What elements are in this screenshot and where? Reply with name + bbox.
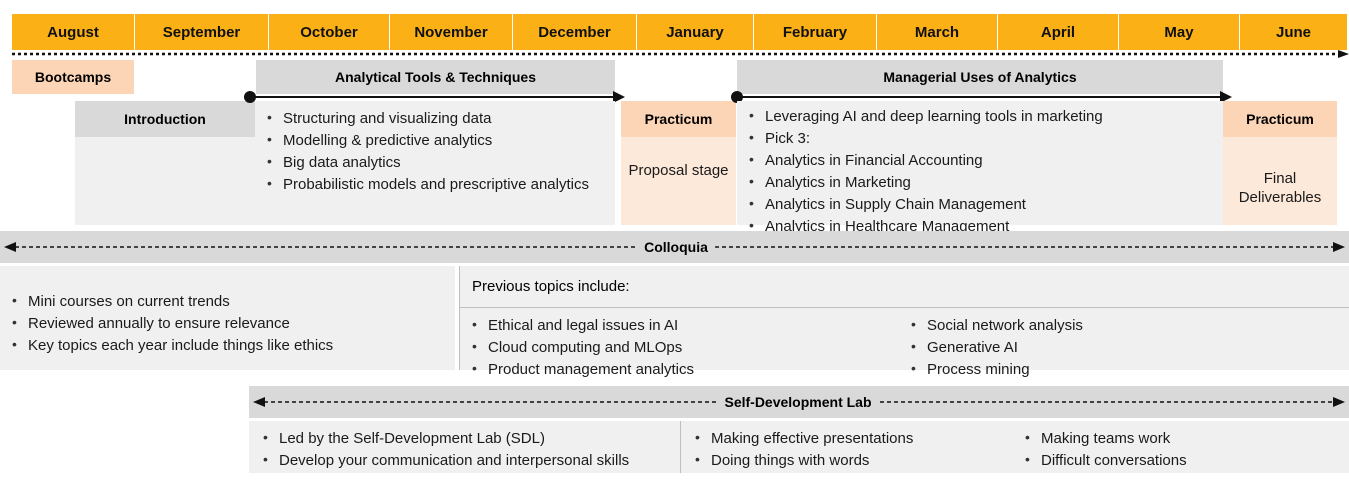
list-item: Pick 3: (745, 129, 1215, 148)
list-item: Develop your communication and interpers… (259, 451, 679, 470)
month-cell-april[interactable]: April (998, 14, 1119, 50)
colloquia-right-heading: Previous topics include: (472, 278, 1349, 295)
practicum-january-note: Proposal stage (628, 161, 728, 180)
list-item: Generative AI (907, 338, 1327, 357)
sdl-column-3: Making teams work Difficult conversation… (1021, 429, 1341, 470)
month-cell-may[interactable]: May (1119, 14, 1240, 50)
analytical-tools-label: Analytical Tools & Techniques (335, 69, 536, 85)
list-item: Modelling & predictive analytics (263, 131, 605, 150)
practicum-june-note: Final Deliverables (1223, 169, 1337, 207)
list-item: Mini courses on current trends (8, 292, 445, 311)
month-cell-november[interactable]: November (390, 14, 513, 50)
sdl-divider (680, 421, 681, 473)
list-item: Analytics in Marketing (745, 173, 1215, 192)
block-managerial-header[interactable]: Managerial Uses of Analytics (737, 60, 1223, 94)
block-analytical-tools-header[interactable]: Analytical Tools & Techniques (256, 60, 615, 94)
block-managerial-body: Leveraging AI and deep learning tools in… (737, 101, 1223, 225)
list-item: Analytics in Financial Accounting (745, 151, 1215, 170)
colloquia-label: Colloquia (637, 239, 715, 255)
block-analytical-tools-body: Structuring and visualizing data Modelli… (255, 101, 615, 225)
colloquia-right-heading-panel: Previous topics include: (459, 266, 1349, 307)
list-item: Analytics in Supply Chain Management (745, 195, 1215, 214)
bootcamps-label: Bootcamps (35, 69, 111, 85)
sdl-band[interactable]: Self-Development Lab (249, 386, 1349, 418)
colloquia-topics-column-1: Ethical and legal issues in AI Cloud com… (468, 316, 888, 379)
sdl-column-2: Making effective presentations Doing thi… (691, 429, 1011, 470)
list-item: Social network analysis (907, 316, 1327, 335)
list-item: Reviewed annually to ensure relevance (8, 314, 445, 333)
block-practicum-june[interactable]: Practicum (1223, 101, 1337, 137)
month-cell-october[interactable]: October (269, 14, 390, 50)
month-cell-august[interactable]: August (12, 14, 135, 50)
list-item: Leveraging AI and deep learning tools in… (745, 107, 1215, 126)
month-cell-january[interactable]: January (637, 14, 754, 50)
list-item: Cloud computing and MLOps (468, 338, 888, 357)
list-item: Difficult conversations (1021, 451, 1341, 470)
block-practicum-january-note: Proposal stage (621, 137, 736, 225)
month-cell-september[interactable]: September (135, 14, 269, 50)
list-item: Product management analytics (468, 360, 888, 379)
managerial-bullet-list: Leveraging AI and deep learning tools in… (745, 107, 1215, 148)
month-cell-february[interactable]: February (754, 14, 877, 50)
sdl-panel: Led by the Self-Development Lab (SDL) De… (249, 421, 1349, 473)
practicum-january-label: Practicum (645, 111, 713, 127)
list-item: Structuring and visualizing data (263, 109, 605, 128)
block-introduction[interactable]: Introduction (75, 101, 255, 137)
list-item: Big data analytics (263, 153, 605, 172)
block-introduction-body (75, 137, 255, 225)
list-item: Probabilistic models and prescriptive an… (263, 175, 605, 194)
introduction-label: Introduction (124, 111, 206, 127)
sdl-label: Self-Development Lab (717, 394, 878, 410)
managerial-label: Managerial Uses of Analytics (883, 69, 1076, 85)
colloquia-band[interactable]: Colloquia (0, 231, 1349, 263)
list-item: Doing things with words (691, 451, 1011, 470)
colloquia-topics-column-2: Social network analysis Generative AI Pr… (907, 316, 1327, 379)
month-header-row: August September October November Decemb… (12, 14, 1337, 50)
block-bootcamps[interactable]: Bootcamps (12, 60, 134, 94)
analytical-tools-bullet-list: Structuring and visualizing data Modelli… (263, 109, 605, 194)
list-item: Making effective presentations (691, 429, 1011, 448)
block-practicum-june-note: Final Deliverables (1223, 137, 1337, 225)
block-practicum-january[interactable]: Practicum (621, 101, 736, 137)
list-item: Key topics each year include things like… (8, 336, 445, 355)
timeline-axis-arrow (12, 50, 1349, 58)
colloquia-left-bullet-list: Mini courses on current trends Reviewed … (8, 292, 445, 355)
list-item: Led by the Self-Development Lab (SDL) (259, 429, 679, 448)
managerial-sub-bullet-list: Analytics in Financial Accounting Analyt… (745, 151, 1215, 236)
month-cell-june[interactable]: June (1240, 14, 1347, 50)
month-cell-december[interactable]: December (513, 14, 637, 50)
sdl-column-1: Led by the Self-Development Lab (SDL) De… (259, 429, 679, 470)
list-item: Ethical and legal issues in AI (468, 316, 888, 335)
month-cell-march[interactable]: March (877, 14, 998, 50)
colloquia-left-panel: Mini courses on current trends Reviewed … (0, 266, 455, 370)
colloquia-right-panel: Ethical and legal issues in AI Cloud com… (459, 308, 1349, 370)
practicum-june-label: Practicum (1246, 111, 1314, 127)
list-item: Process mining (907, 360, 1327, 379)
list-item: Making teams work (1021, 429, 1341, 448)
